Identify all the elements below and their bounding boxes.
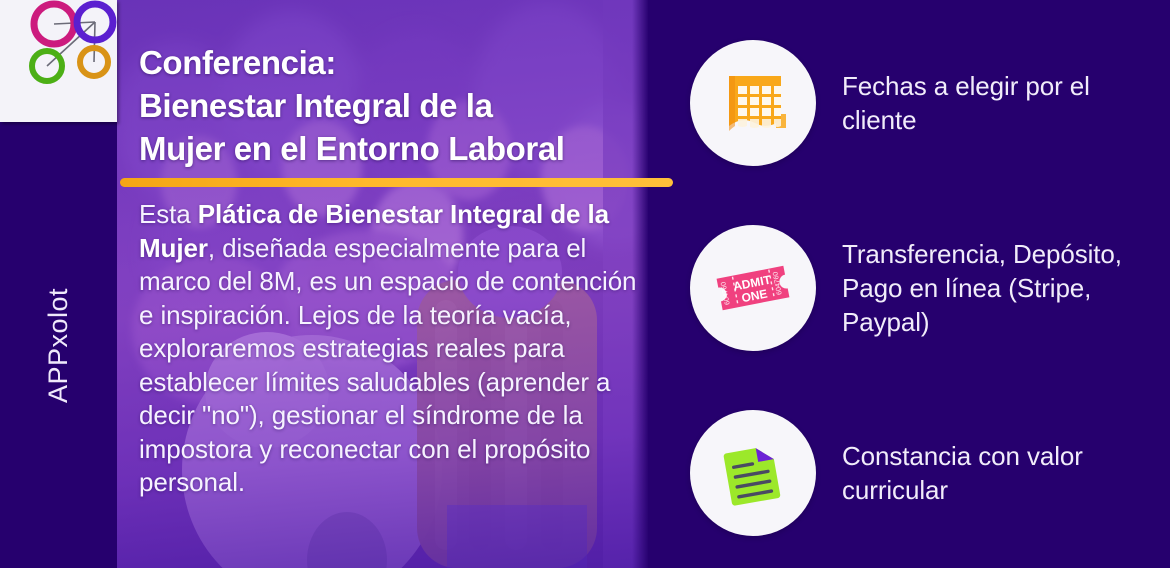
hero-title-line-1: Conferencia:: [139, 42, 659, 85]
orange-divider: [120, 178, 673, 187]
feature-icon-badge: [690, 410, 816, 536]
description-rest: , diseñada especialmente para el marco d…: [139, 233, 636, 498]
admit-one-ticket-icon: ADMIT ONE 604760 604760: [711, 246, 795, 330]
hero-title-line-2: Bienestar Integral de la: [139, 85, 659, 128]
feature-label: Transferencia, Depósito, Pago en línea (…: [842, 237, 1142, 340]
feature-label: Fechas a elegir por el cliente: [842, 69, 1142, 138]
brand-name: APPxolot: [43, 287, 74, 402]
brand-name-rail: APPxolot: [0, 122, 117, 568]
hero-title-line-3: Mujer en el Entorno Laboral: [139, 128, 659, 171]
hero-title: Conferencia: Bienestar Integral de la Mu…: [139, 42, 659, 171]
feature-item-dates[interactable]: Fechas a elegir por el cliente: [690, 40, 1142, 166]
feature-item-payments[interactable]: ADMIT ONE 604760 604760 Transferencia, D…: [690, 225, 1142, 351]
feature-item-certificate[interactable]: Constancia con valor curricular: [690, 410, 1142, 536]
feature-label: Constancia con valor curricular: [842, 439, 1142, 508]
feature-list: Fechas a elegir por el cliente ADMIT ONE…: [690, 0, 1170, 568]
brand-logo-card[interactable]: [0, 0, 117, 122]
feature-icon-badge: [690, 40, 816, 166]
calendar-icon: [714, 64, 792, 142]
hero-description: Esta Plática de Bienestar Integral de la…: [139, 198, 639, 500]
description-lead: Esta: [139, 199, 198, 229]
appxolot-network-logo: [0, 0, 117, 90]
flyer-canvas: Conferencia: Bienestar Integral de la Mu…: [0, 0, 1170, 568]
feature-icon-badge: ADMIT ONE 604760 604760: [690, 225, 816, 351]
certificate-document-icon: [713, 433, 793, 513]
